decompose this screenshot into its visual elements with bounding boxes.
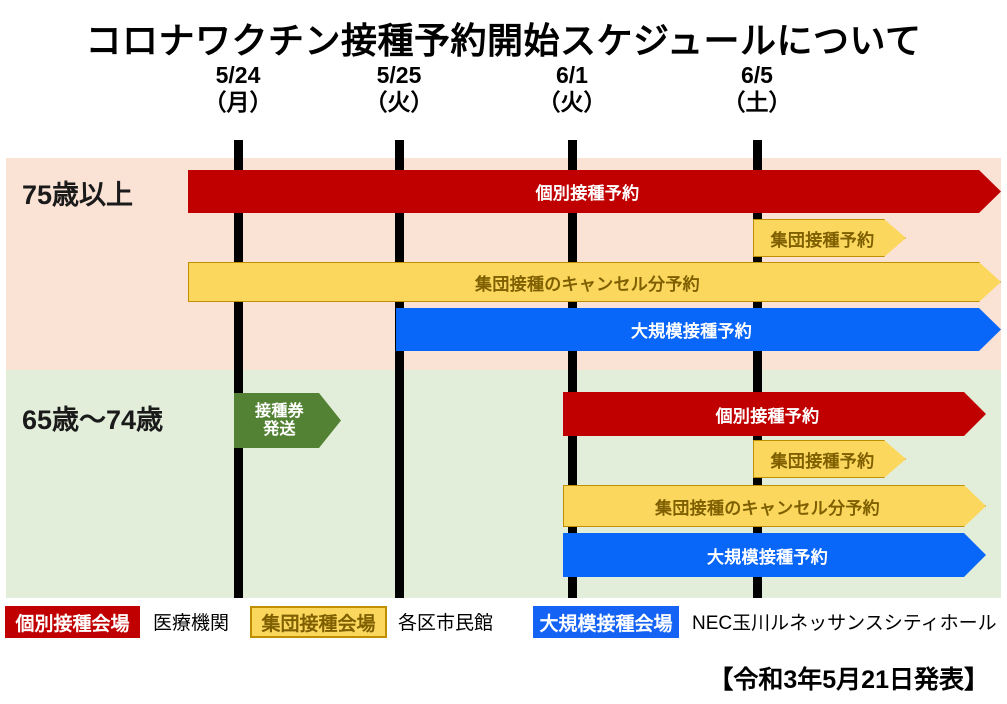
legend-chip-red: 個別接種会場	[5, 606, 140, 638]
timeline-bar: 大規模接種予約	[396, 308, 1001, 351]
date-header-weekday: （月）	[178, 89, 298, 116]
timeline-bar-label: 個別接種予約	[188, 179, 1001, 204]
timeline-bar-label: 接種券 発送	[234, 403, 341, 439]
timeline-bar-label: 個別接種予約	[563, 402, 986, 427]
timeline-bar: 集団接種予約	[753, 440, 906, 478]
date-header-day: 5/25	[339, 62, 459, 89]
timeline-bar: 集団接種のキャンセル分予約	[563, 485, 986, 527]
date-header-weekday: （火）	[512, 89, 632, 116]
timeline-bar-label: 集団接種予約	[753, 447, 906, 472]
legend-chip-yellow: 集団接種会場	[250, 606, 387, 638]
page-title: コロナワクチン接種予約開始スケジュールについて	[0, 12, 1007, 64]
timeline-bar: 集団接種予約	[753, 219, 906, 257]
age-group-label-65-to-74: 65歳～74歳	[22, 398, 163, 437]
date-header-day: 6/1	[512, 62, 632, 89]
date-header-5-24: 5/24（月）	[178, 62, 298, 116]
legend-venue-name: NEC玉川ルネッサンスシティホール	[692, 608, 997, 635]
date-header-day: 5/24	[178, 62, 298, 89]
published-date: 【令和3年5月21日発表】	[708, 660, 989, 696]
date-header-6-5: 6/5（土）	[697, 62, 817, 116]
timeline-bar-label: 集団接種のキャンセル分予約	[188, 270, 1001, 295]
timeline-bar: 個別接種予約	[188, 170, 1001, 213]
date-header-day: 6/5	[697, 62, 817, 89]
legend-chip-blue: 大規模接種会場	[533, 606, 679, 638]
timeline-bar: 個別接種予約	[563, 392, 986, 436]
timeline-bar: 接種券 発送	[234, 393, 341, 448]
timeline-bar: 集団接種のキャンセル分予約	[188, 262, 1001, 302]
timeline-bar-label: 集団接種予約	[753, 226, 906, 251]
date-header-weekday: （土）	[697, 89, 817, 116]
age-group-label-75-and-over: 75歳以上	[22, 173, 133, 212]
timeline-bar: 大規模接種予約	[563, 533, 986, 577]
date-header-6-1: 6/1（火）	[512, 62, 632, 116]
legend-venue-name: 医療機関	[153, 608, 229, 635]
schedule-infographic: コロナワクチン接種予約開始スケジュールについて 75歳以上 65歳～74歳 5/…	[0, 0, 1007, 704]
legend-venue-name: 各区市民館	[398, 608, 493, 635]
timeline-bar-label: 大規模接種予約	[396, 317, 1001, 342]
date-header-weekday: （火）	[339, 89, 459, 116]
legend: 個別接種会場医療機関集団接種会場各区市民館大規模接種会場NEC玉川ルネッサンスシ…	[0, 606, 1007, 646]
timeline-bar-label: 大規模接種予約	[563, 543, 986, 568]
timeline-bar-label: 集団接種のキャンセル分予約	[563, 494, 986, 519]
date-header-5-25: 5/25（火）	[339, 62, 459, 116]
